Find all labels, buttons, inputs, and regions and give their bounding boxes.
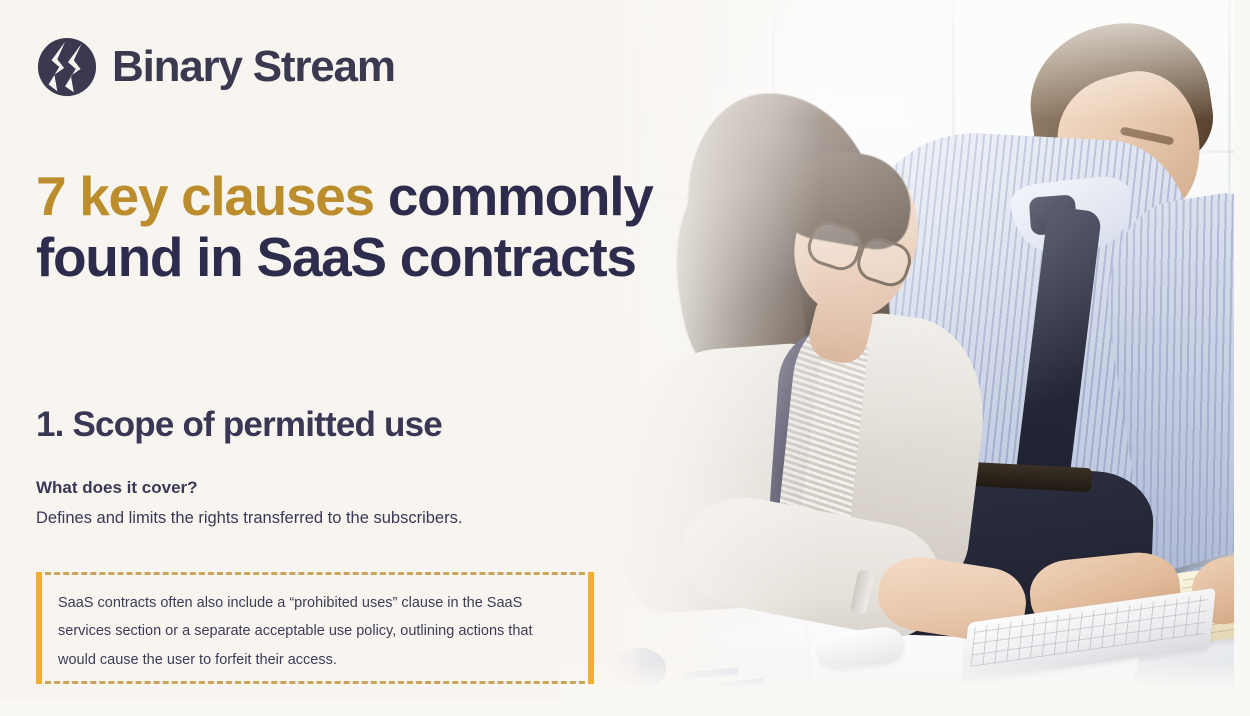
brand-name: Binary Stream (112, 45, 395, 89)
callout-box: SaaS contracts often also include a “pro… (36, 572, 594, 684)
slide-canvas: Binary Stream 7 key clauses commonly fou… (0, 0, 1250, 716)
content-column: Binary Stream 7 key clauses commonly fou… (0, 0, 720, 716)
section-question-label: What does it cover? (36, 478, 198, 498)
callout-text: SaaS contracts often also include a “pro… (58, 589, 570, 674)
section-answer-text: Defines and limits the rights transferre… (36, 509, 462, 528)
headline-highlight: 7 key clauses (36, 165, 374, 227)
binary-stream-logo-mark (36, 36, 98, 98)
page-margin-right (1234, 0, 1250, 716)
brand-logo[interactable]: Binary Stream (36, 36, 395, 98)
page-title: 7 key clauses commonly found in SaaS con… (36, 166, 716, 287)
section-heading: 1. Scope of permitted use (36, 405, 442, 445)
